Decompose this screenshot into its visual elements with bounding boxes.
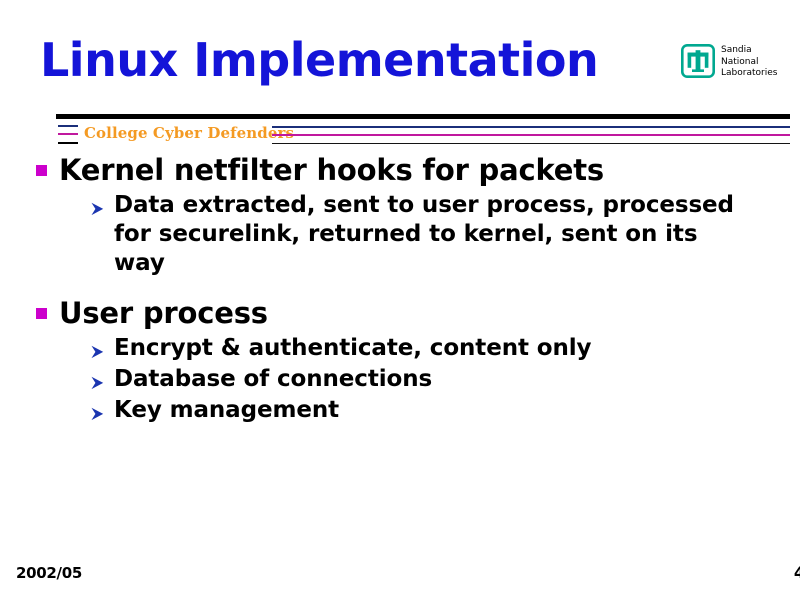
bullet-section: Kernel netfilter hooks for packets Data … (36, 152, 776, 278)
divider-tick-marks (58, 125, 78, 147)
arrow-bullet-icon (90, 340, 105, 364)
sandia-logo-line-3: Laboratories (721, 68, 777, 80)
divider-navy-rule (272, 126, 790, 128)
sandia-logo-text: Sandia National Laboratories (721, 44, 777, 80)
sandia-logo-line-2: National (721, 57, 777, 69)
list-item: Encrypt & authenticate, content only (90, 334, 776, 364)
tick-magenta (58, 133, 78, 135)
section-spacer (36, 279, 776, 295)
sub-bullet-list: Data extracted, sent to user process, pr… (90, 191, 776, 279)
divider-hairline-rule (272, 143, 790, 144)
divider-band: College Cyber Defenders (0, 112, 800, 154)
bullet-heading-row: User process (36, 295, 776, 332)
bullet-heading-row: Kernel netfilter hooks for packets (36, 152, 776, 189)
list-item: Database of connections (90, 365, 776, 395)
sub-bullet-list: Encrypt & authenticate, content only Dat… (90, 334, 776, 426)
arrow-bullet-icon (90, 402, 105, 426)
bullet-heading: User process (59, 295, 268, 332)
bullet-heading: Kernel netfilter hooks for packets (59, 152, 604, 189)
list-item: Data extracted, sent to user process, pr… (90, 191, 776, 279)
page-title: Linux Implementation (40, 36, 660, 86)
arrow-bullet-icon (90, 371, 105, 395)
footer-date: 2002/05 (16, 564, 82, 582)
sandia-logo-line-1: Sandia (721, 45, 777, 57)
slide-canvas: Linux Implementation Sandia National Lab… (0, 0, 800, 600)
bullet-section: User process Encrypt & authenticate, con… (36, 295, 776, 426)
square-bullet-icon (36, 165, 47, 176)
arrow-bullet-icon (90, 197, 105, 221)
tick-navy (58, 125, 78, 127)
band-label: College Cyber Defenders (84, 124, 294, 142)
sandia-thunderbird-logo-icon (681, 44, 715, 78)
sub-bullet-text: Key management (114, 396, 339, 425)
sub-bullet-text: Database of connections (114, 365, 432, 394)
sandia-logo-block: Sandia National Laboratories (681, 44, 777, 80)
divider-magenta-rule (272, 134, 790, 136)
square-bullet-icon (36, 308, 47, 319)
slide-body: Kernel netfilter hooks for packets Data … (36, 152, 776, 427)
sub-bullet-text: Data extracted, sent to user process, pr… (114, 191, 734, 279)
list-item: Key management (90, 396, 776, 426)
tick-black (58, 142, 78, 144)
divider-thick-black-rule (56, 114, 790, 119)
footer-page-number: 4 (794, 563, 800, 582)
sub-bullet-text: Encrypt & authenticate, content only (114, 334, 591, 363)
